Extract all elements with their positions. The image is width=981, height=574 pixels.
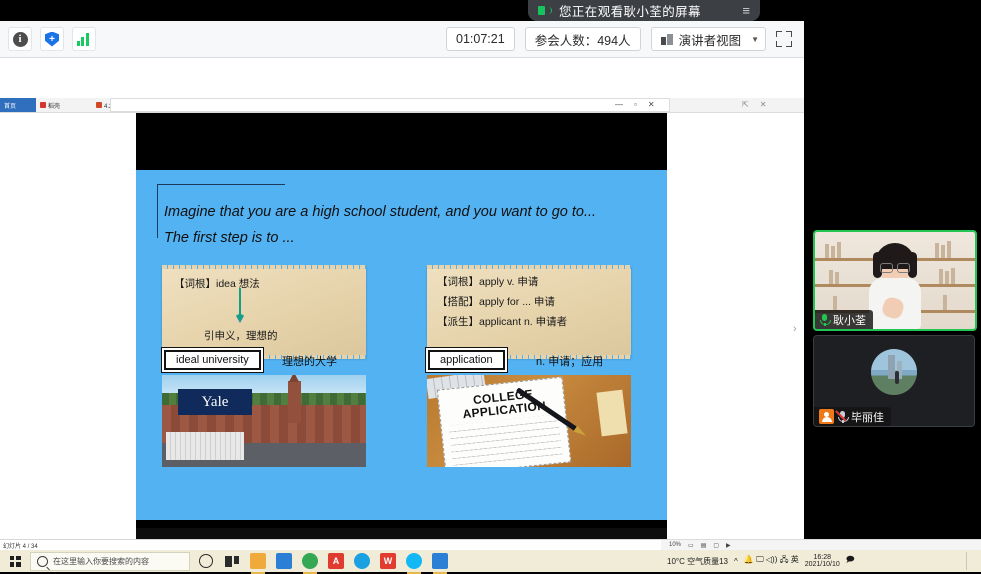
meeting-toolbar: i + 01:07:21 参会人数：494人 演讲者视图 ▼ <box>0 21 804 58</box>
expand-panel-icon[interactable]: › <box>793 323 797 335</box>
windows-start-icon <box>10 556 21 567</box>
screen-root: 您正在观看耿小荃的屏幕 ≡ i + 01:07:21 参会人数：494人 演讲者… <box>0 0 981 572</box>
task-view-icon[interactable] <box>224 553 240 569</box>
application-form: COLLEGE APPLICATION <box>437 377 571 467</box>
view-sorter-icon[interactable]: ▤ <box>701 542 707 549</box>
layout-icon <box>661 34 673 45</box>
inner-window-titlebar <box>110 98 670 112</box>
tray-time: 16:28 <box>805 554 840 561</box>
tray-icon-group[interactable]: 🔔 🖵 ◁)) 🖧 英 <box>744 554 799 568</box>
right-card-line-1: 【词根】apply v. 申请 <box>437 274 538 289</box>
cortana-icon[interactable] <box>198 553 214 569</box>
start-button[interactable] <box>4 550 26 572</box>
store-icon[interactable] <box>276 553 292 569</box>
slide-line-2: The first step is to ... <box>164 230 295 246</box>
second-name-bar: 毕丽佳 <box>814 407 891 426</box>
microphone-icon <box>820 314 829 326</box>
left-card-derived: 引申义，理想的 <box>204 328 278 343</box>
host-badge-icon <box>819 409 834 424</box>
microphone-muted-icon <box>838 411 847 423</box>
search-icon <box>37 556 48 567</box>
zoom-level[interactable]: 10% <box>669 542 681 548</box>
view-mode-label: 演讲者视图 <box>679 30 742 49</box>
weather-status[interactable]: 10°C 空气质量13 <box>667 556 728 567</box>
tab-home[interactable]: 首页 <box>0 98 36 112</box>
attendee-count[interactable]: 参会人数：494人 <box>525 27 641 51</box>
network-quality-button[interactable] <box>72 27 96 51</box>
meeting-timer: 01:07:21 <box>446 27 515 51</box>
system-tray: 10°C 空气质量13 ^ 🔔 🖵 ◁)) 🖧 英 16:28 2021/10/… <box>661 550 981 572</box>
tray-date: 2021/10/10 <box>805 561 840 568</box>
slide-line-1: Imagine that you are a high school stude… <box>164 204 596 220</box>
yale-campus-photo: Yale <box>162 375 366 467</box>
participant-tile-speaker[interactable]: 耿小荃 <box>813 230 977 331</box>
wps-writer-icon[interactable]: W <box>380 553 396 569</box>
network-quality-icon <box>77 33 92 46</box>
tray-chevron-icon[interactable]: ^ <box>734 557 738 566</box>
slide-counter: 幻灯片 4 / 34 <box>3 541 38 550</box>
college-application-photo: COLLEGE APPLICATION <box>427 375 631 467</box>
slide-rule-horizontal <box>157 184 285 185</box>
view-mode-dropdown[interactable]: 演讲者视图 ▼ <box>651 27 766 51</box>
meeting-app-icon[interactable] <box>432 553 448 569</box>
word-meaning-left: 理想的大学 <box>282 353 337 369</box>
word-card-left: 【词根】idea 想法 引申义，理想的 <box>162 266 366 358</box>
shield-button[interactable]: + <box>40 27 64 51</box>
taskbar-apps: A W <box>198 550 448 572</box>
view-reading-icon[interactable]: ▢ <box>713 542 719 549</box>
ppt-status-bar: 10% ▭ ▤ ▢ ▶ <box>661 539 981 550</box>
show-desktop-button[interactable] <box>966 552 977 570</box>
qq-icon[interactable] <box>406 553 422 569</box>
share-banner-text: 您正在观看耿小荃的屏幕 <box>559 1 701 20</box>
tab-docer-label: 稻壳 <box>48 101 60 110</box>
close-icon[interactable]: ✕ <box>648 100 655 109</box>
close-outer-icon[interactable]: ✕ <box>760 100 767 109</box>
minimize-icon[interactable]: — <box>615 100 623 109</box>
word-card-right: 【词根】apply v. 申请 【搭配】apply for ... 申请 【派生… <box>427 266 631 358</box>
info-icon: i <box>13 32 28 47</box>
notification-center-icon[interactable]: 🗩 <box>846 554 855 568</box>
chrome-icon[interactable] <box>302 553 318 569</box>
word-chip-ideal-university: ideal university <box>164 350 261 370</box>
toolbar-right-group: 01:07:21 参会人数：494人 演讲者视图 ▼ <box>446 27 804 51</box>
window-controls-main: — ▫ ✕ <box>615 100 655 109</box>
view-normal-icon[interactable]: ▭ <box>688 542 694 549</box>
info-button[interactable]: i <box>8 27 32 51</box>
screen-share-banner: 您正在观看耿小荃的屏幕 ≡ <box>528 0 760 21</box>
toolbar-left-group: i + <box>0 27 96 51</box>
right-card-line-3: 【派生】applicant n. 申请者 <box>437 314 567 329</box>
down-arrow-icon <box>234 288 246 324</box>
word-chip-application: application <box>428 350 505 370</box>
browser-icon[interactable] <box>354 553 370 569</box>
presentation-frame: Imagine that you are a high school stude… <box>136 113 667 539</box>
participant-tile-second[interactable]: 毕丽佳 <box>813 335 975 427</box>
chevron-down-icon: ▼ <box>751 35 759 44</box>
slideshow-icon[interactable]: ▶ <box>726 542 731 549</box>
participant-name: 毕丽佳 <box>851 409 884 425</box>
file-explorer-icon[interactable] <box>250 553 266 569</box>
pdf-reader-icon[interactable]: A <box>328 553 344 569</box>
speaker-person <box>869 246 921 329</box>
search-placeholder: 在这里输入你要搜索的内容 <box>53 556 149 567</box>
search-input[interactable]: 在这里输入你要搜索的内容 <box>30 552 190 571</box>
shield-icon: + <box>45 32 59 47</box>
slide-rule-vertical <box>157 184 158 238</box>
maximize-icon[interactable]: ▫ <box>634 100 637 109</box>
left-card-root: 【词根】idea 想法 <box>174 276 260 291</box>
yale-logo: Yale <box>178 389 252 415</box>
shared-screen-area: 首页 稻壳 4.22共基PPT.ppt 长征普通话汇总 高一升 写本153419… <box>0 58 804 539</box>
speaker-name-bar: 耿小荃 <box>815 310 873 329</box>
speaker-icon <box>538 5 552 16</box>
slide-canvas[interactable]: Imagine that you are a high school stude… <box>136 170 667 520</box>
ppt-slide-counter-bar: 幻灯片 4 / 34 <box>0 539 661 550</box>
word-meaning-right: n. 申请；应用 <box>536 353 603 369</box>
participant-rail: 耿小荃 毕丽佳 <box>804 21 981 539</box>
right-card-line-2: 【搭配】apply for ... 申请 <box>437 294 555 309</box>
participant-name: 耿小荃 <box>833 312 866 328</box>
avatar <box>871 349 917 395</box>
fullscreen-icon[interactable] <box>776 31 792 47</box>
notepad-shape <box>596 390 627 437</box>
restore-icon[interactable]: ⇱ <box>742 100 749 109</box>
window-controls-outer: ⇱ ✕ <box>742 100 766 109</box>
tab-docer[interactable]: 稻壳 <box>36 98 64 112</box>
banner-more-icon[interactable]: ≡ <box>742 4 750 17</box>
glasses-icon <box>880 263 910 271</box>
clock[interactable]: 16:28 2021/10/10 <box>805 554 840 569</box>
